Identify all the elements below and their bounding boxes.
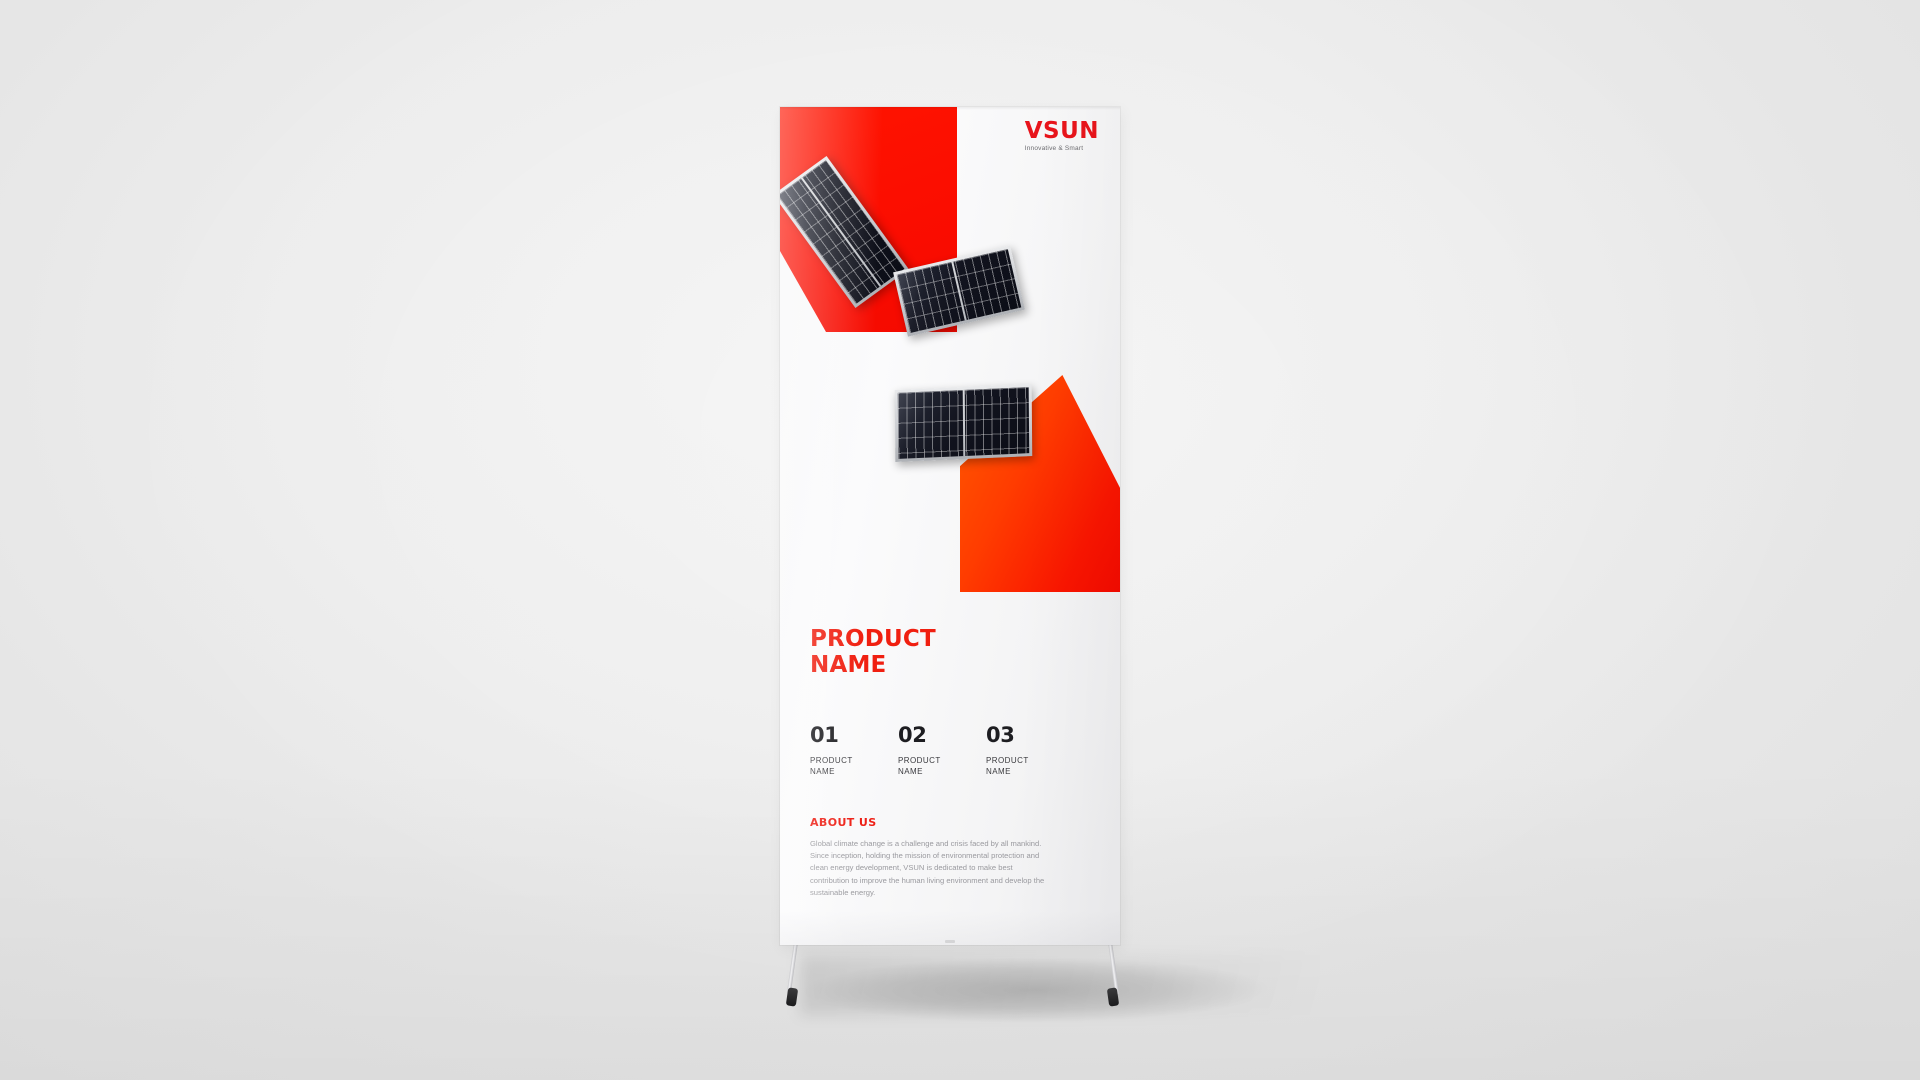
panel-divider (962, 390, 965, 456)
list-item: 02 PRODUCT NAME (898, 725, 986, 778)
about-body-text: Global climate change is a challenge and… (810, 838, 1050, 899)
about-section: ABOUT US Global climate change is a chal… (810, 816, 1096, 899)
feature-list: 01 PRODUCT NAME 02 PRODUCT NAME 03 PRODU… (810, 725, 1096, 778)
panel-divider (951, 262, 966, 321)
solar-panel-bottom (895, 384, 1032, 462)
feature-number: 03 (986, 725, 1074, 746)
logo-tagline: Innovative & Smart (1025, 146, 1099, 153)
feature-label: PRODUCT NAME (898, 755, 986, 778)
feature-label: PRODUCT NAME (810, 755, 898, 778)
banner-contact-shadow (800, 955, 1320, 1015)
about-heading: ABOUT US (810, 816, 1096, 829)
feature-label: PRODUCT NAME (986, 755, 1074, 778)
solar-cell-grid (898, 387, 1029, 459)
stand-foot-left (786, 987, 798, 1006)
page-title: PRODUCT NAME (810, 627, 1096, 679)
banner-content: PRODUCT NAME 01 PRODUCT NAME 02 PRODUCT … (810, 627, 1096, 899)
list-item: 01 PRODUCT NAME (810, 725, 898, 778)
logo-wordmark: VSUN (1025, 120, 1099, 143)
banner-bottom-notch (945, 940, 955, 943)
feature-number: 02 (898, 725, 986, 746)
roll-up-banner: VSUN Innovative & Smart PRODUCT NAME 01 … (780, 107, 1120, 945)
vsun-logo: VSUN Innovative & Smart (1025, 120, 1099, 153)
feature-number: 01 (810, 725, 898, 746)
banner-cast-shadow (760, 942, 1350, 1062)
list-item: 03 PRODUCT NAME (986, 725, 1074, 778)
studio-scene: VSUN Innovative & Smart PRODUCT NAME 01 … (0, 0, 1920, 1080)
